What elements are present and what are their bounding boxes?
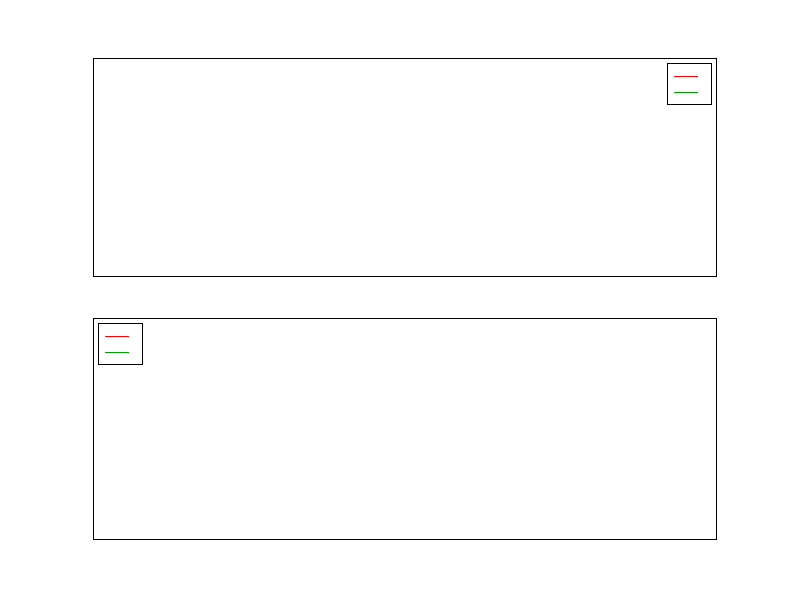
legend-swatch-yy2	[105, 352, 129, 353]
top-panel-tick-marks	[94, 59, 716, 276]
legend-entry	[104, 344, 136, 360]
top-panel-axes	[93, 58, 717, 277]
legend-swatch-xx1	[674, 76, 698, 77]
legend-entry	[673, 68, 705, 84]
legend-swatch-yy1	[674, 92, 698, 93]
bottom-panel-axes	[93, 318, 717, 540]
legend-swatch-xx2	[105, 336, 129, 337]
top-panel-legend	[667, 63, 712, 105]
bottom-panel-legend	[98, 323, 143, 365]
bottom-panel-tick-marks	[94, 319, 716, 539]
legend-entry	[673, 84, 705, 100]
figure-canvas	[0, 0, 800, 600]
legend-entry	[104, 328, 136, 344]
